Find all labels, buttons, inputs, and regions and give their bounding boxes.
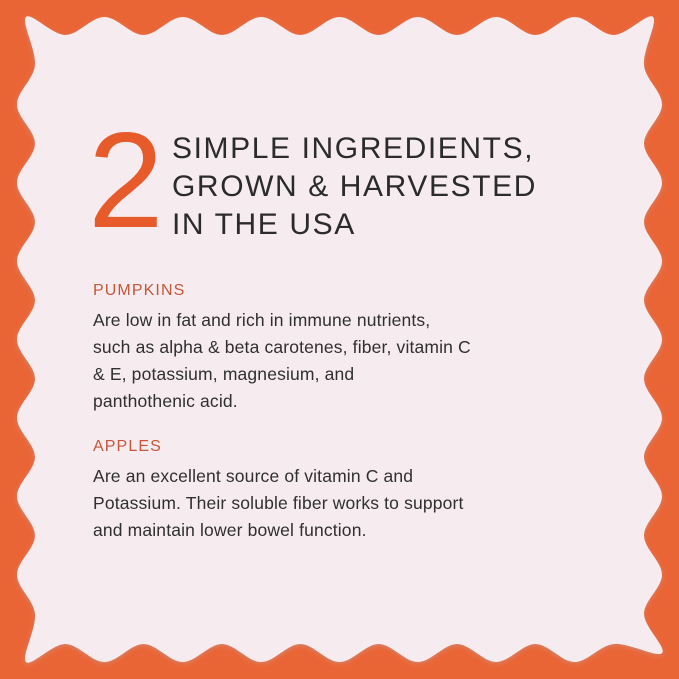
section-body-apples: Are an excellent source of vitamin C and…	[93, 463, 593, 544]
infographic-card: 2 SIMPLE INGREDIENTS, GROWN & HARVESTED …	[0, 0, 679, 679]
section-label-pumpkins: PUMPKINS	[93, 281, 593, 301]
section-body-pumpkins: Are low in fat and rich in immune nutrie…	[93, 307, 593, 415]
heading-number: 2	[88, 118, 172, 243]
heading-block: 2 SIMPLE INGREDIENTS, GROWN & HARVESTED …	[88, 124, 608, 249]
section-label-apples: APPLES	[93, 437, 593, 457]
ingredient-sections: PUMPKINS Are low in fat and rich in immu…	[93, 281, 593, 544]
page-title: SIMPLE INGREDIENTS, GROWN & HARVESTED IN…	[172, 130, 608, 244]
section-pumpkins: PUMPKINS Are low in fat and rich in immu…	[93, 281, 593, 415]
section-apples: APPLES Are an excellent source of vitami…	[93, 437, 593, 544]
card-content: 2 SIMPLE INGREDIENTS, GROWN & HARVESTED …	[0, 0, 679, 679]
